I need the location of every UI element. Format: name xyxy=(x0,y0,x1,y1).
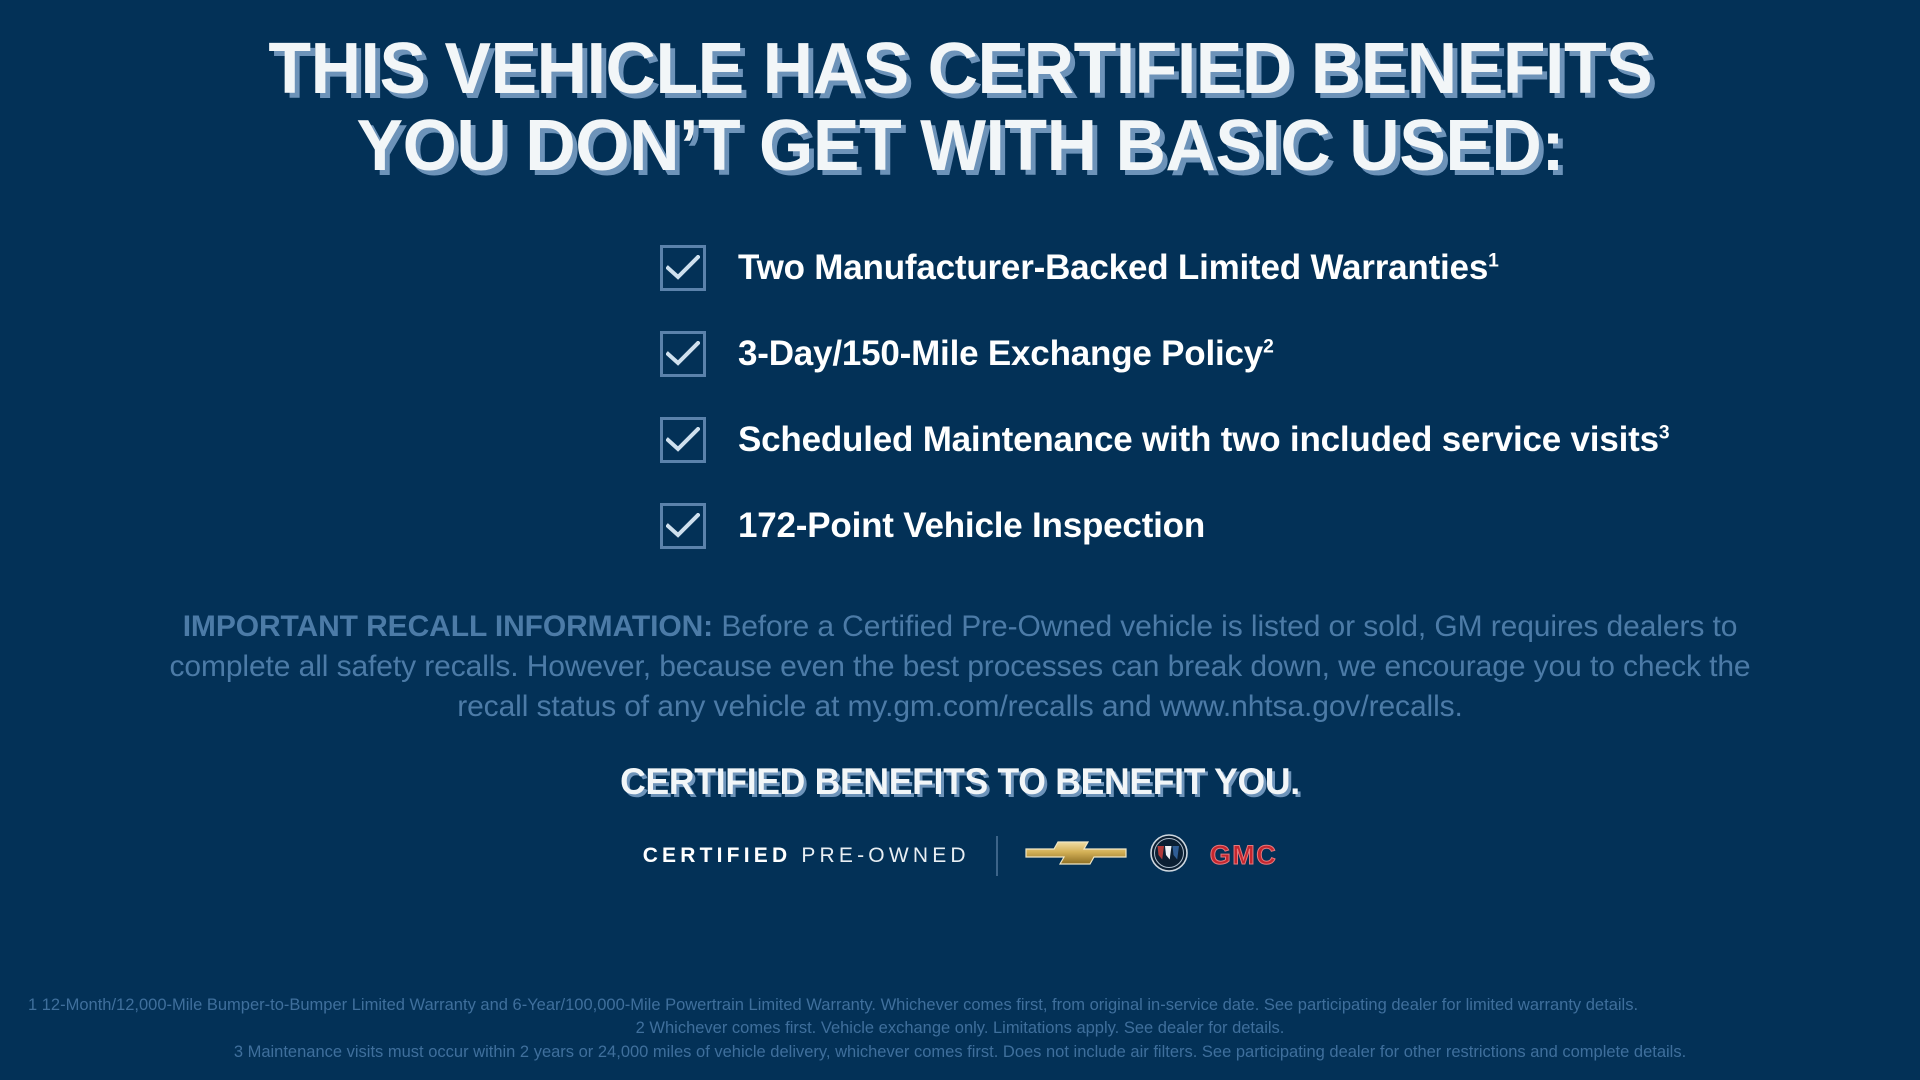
pre-owned-word: PRE-OWNED xyxy=(801,844,969,868)
headline-line-2: YOU DON’T GET WITH BASIC USED: xyxy=(268,111,1652,182)
certified-word: CERTIFIED xyxy=(643,844,792,868)
headline-line-1: THIS VEHICLE HAS CERTIFIED BENEFITS xyxy=(268,34,1652,105)
checkbox-checked-icon xyxy=(660,503,706,549)
benefit-text: 3-Day/150-Mile Exchange Policy xyxy=(738,334,1263,373)
benefit-footnote-marker: 2 xyxy=(1263,336,1274,357)
tagline: CERTIFIED BENEFITS TO BENEFIT YOU. xyxy=(620,761,1300,803)
brand-logos: GMC xyxy=(1024,834,1278,877)
footnote-2: 2 Whichever comes first. Vehicle exchang… xyxy=(0,1017,1920,1040)
brand-logo-bar: CERTIFIED PRE-OWNED xyxy=(643,833,1278,879)
list-item: 3-Day/150-Mile Exchange Policy2 xyxy=(660,311,1560,397)
checkbox-checked-icon xyxy=(660,417,706,463)
checkbox-checked-icon xyxy=(660,331,706,377)
benefit-label: Scheduled Maintenance with two included … xyxy=(738,420,1669,460)
certified-pre-owned-slide: THIS VEHICLE HAS CERTIFIED BENEFITS YOU … xyxy=(0,0,1920,1080)
list-item: Scheduled Maintenance with two included … xyxy=(660,397,1560,483)
list-item: Two Manufacturer-Backed Limited Warranti… xyxy=(660,225,1560,311)
benefit-text: Scheduled Maintenance with two included … xyxy=(738,420,1659,459)
recall-information: IMPORTANT RECALL INFORMATION: Before a C… xyxy=(160,607,1760,727)
buick-tri-shield-logo xyxy=(1150,834,1188,877)
recall-heading: IMPORTANT RECALL INFORMATION: xyxy=(183,610,713,643)
benefit-label: 172-Point Vehicle Inspection xyxy=(738,506,1205,546)
divider xyxy=(996,836,998,876)
gmc-wordmark: GMC xyxy=(1210,842,1278,869)
footnote-1: 1 12-Month/12,000-Mile Bumper-to-Bumper … xyxy=(0,994,1920,1017)
benefit-footnote-marker: 1 xyxy=(1488,250,1499,271)
benefit-text: 172-Point Vehicle Inspection xyxy=(738,506,1205,545)
list-item: 172-Point Vehicle Inspection xyxy=(660,483,1560,569)
benefits-list: Two Manufacturer-Backed Limited Warranti… xyxy=(360,225,1560,569)
benefit-label: 3-Day/150-Mile Exchange Policy2 xyxy=(738,334,1274,374)
chevrolet-bowtie-logo xyxy=(1024,838,1128,873)
page-title: THIS VEHICLE HAS CERTIFIED BENEFITS YOU … xyxy=(268,34,1652,181)
gmc-logo: GMC xyxy=(1210,842,1278,869)
checkbox-checked-icon xyxy=(660,245,706,291)
footnote-3: 3 Maintenance visits must occur within 2… xyxy=(0,1041,1920,1064)
footnotes: 1 12-Month/12,000-Mile Bumper-to-Bumper … xyxy=(0,994,1920,1064)
benefit-footnote-marker: 3 xyxy=(1659,422,1670,443)
benefit-text: Two Manufacturer-Backed Limited Warranti… xyxy=(738,248,1488,287)
benefit-label: Two Manufacturer-Backed Limited Warranti… xyxy=(738,248,1499,288)
